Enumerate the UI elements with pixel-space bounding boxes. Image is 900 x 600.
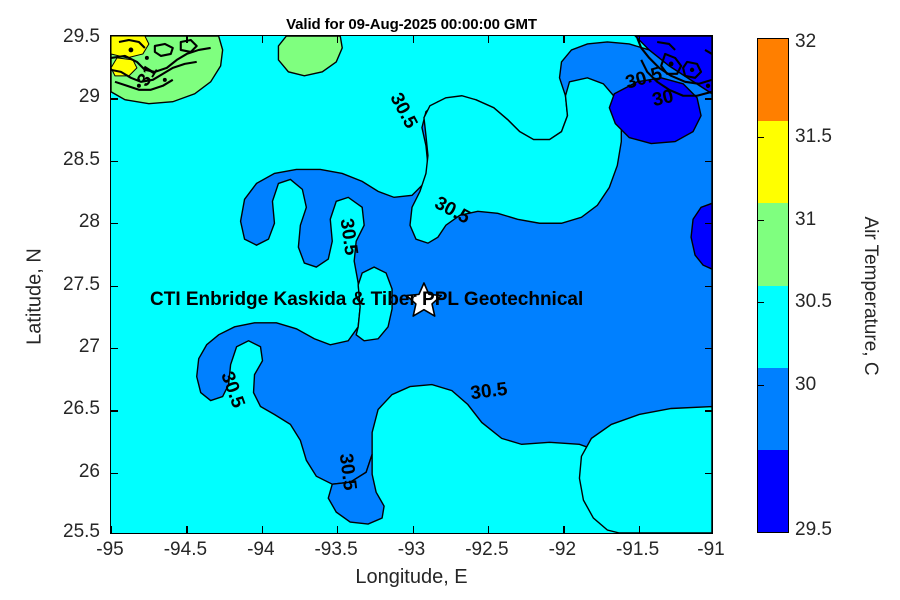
site-annotation-label: CTI Enbridge Kaskida & Tiber PPL Geotech… [150, 289, 583, 311]
colorbar-tick-label: 31.5 [795, 126, 832, 148]
ytick-mark-right [705, 348, 712, 349]
ytick-label: 27.5 [100, 274, 137, 296]
ytick-label: 29 [100, 86, 121, 108]
colorbar-tick-label: 29.5 [795, 519, 832, 541]
ytick-mark-right [705, 98, 712, 99]
colorbar-tick [757, 302, 764, 303]
ytick-mark-right [705, 223, 712, 224]
page-title: Valid for 09-Aug-2025 00:00:00 GMT [110, 16, 713, 33]
colorbar-tick-label: 32 [795, 31, 816, 53]
xtick-mark [563, 526, 564, 533]
colorbar-tick-label: 30.5 [795, 291, 832, 313]
xtick-mark-top [337, 36, 338, 43]
xtick-mark-top [262, 36, 263, 43]
xtick-mark-top [488, 36, 489, 43]
ytick-label: 27 [100, 336, 121, 358]
ytick-mark-right [705, 410, 712, 411]
xtick-mark [413, 526, 414, 533]
xtick-mark-top [639, 36, 640, 43]
xtick-label: -91 [697, 539, 724, 561]
xtick-label: -92 [549, 539, 576, 561]
colorbar-band-29.5-30 [758, 368, 788, 450]
xtick-label: -94 [247, 539, 274, 561]
xtick-mark-top [413, 36, 414, 43]
xtick-label: -92.5 [465, 539, 508, 561]
xtick-mark [639, 526, 640, 533]
ytick-mark-right [705, 473, 712, 474]
xtick-mark [186, 526, 187, 533]
xtick-mark [488, 526, 489, 533]
ytick-label: 25.5 [100, 521, 137, 543]
contour-label: 30.5 [334, 452, 360, 491]
y-axis-label: Latitude, N [24, 182, 47, 412]
ytick-label: 26.5 [100, 398, 137, 420]
xtick-mark-top [186, 36, 187, 43]
ytick-label: 28.5 [100, 149, 137, 171]
contour-label: 30.5 [469, 379, 508, 405]
xtick-mark [337, 526, 338, 533]
colorbar-tick-label: 30 [795, 374, 816, 396]
colorbar-title: Air Temperature, C [859, 181, 881, 411]
xtick-label: -93 [398, 539, 425, 561]
xtick-label: -91.5 [616, 539, 659, 561]
colorbar-band-30.5-31 [758, 203, 788, 285]
colorbar-band-31-31.5 [758, 121, 788, 203]
xtick-mark-top [563, 36, 564, 43]
figure-canvas: Valid for 09-Aug-2025 00:00:00 GMT [0, 0, 900, 600]
colorbar-tick-label: 31 [795, 209, 816, 231]
colorbar-band-31.5-32 [758, 39, 788, 121]
xtick-label: -93.5 [314, 539, 357, 561]
ytick-label: 29.5 [100, 26, 137, 48]
colorbar-band-below-29.5 [758, 450, 788, 532]
ytick-mark-right [705, 286, 712, 287]
ytick-label: 28 [100, 211, 121, 233]
ytick-label: 26 [100, 461, 121, 483]
colorbar[interactable] [757, 38, 789, 533]
contour-label: 30 [650, 86, 676, 112]
xtick-label: -94.5 [164, 539, 207, 561]
xtick-mark [262, 526, 263, 533]
colorbar-tick [757, 220, 764, 221]
colorbar-band-30-30.5 [758, 286, 788, 368]
colorbar-tick [757, 137, 764, 138]
colorbar-tick [757, 385, 764, 386]
ytick-mark-right [705, 161, 712, 162]
x-axis-label: Longitude, E [110, 566, 713, 589]
